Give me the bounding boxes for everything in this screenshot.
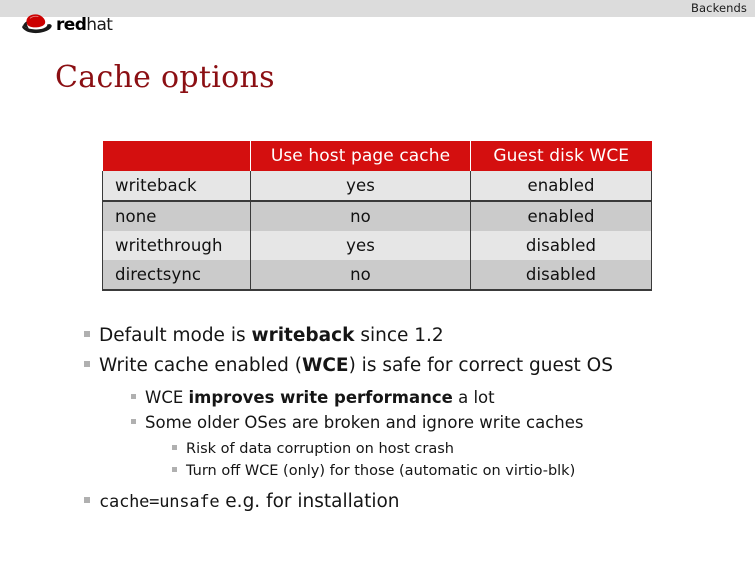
bullet-text-strong: WCE	[302, 355, 349, 376]
bullet-text-strong: improves write performance	[189, 388, 453, 407]
bullet-turn-off-wce: Turn off WCE (only) for those (automatic…	[172, 460, 724, 482]
bullet-text-post: e.g. for installation	[219, 491, 399, 512]
bullet-text-pre: Default mode is	[99, 325, 251, 346]
bullet-older-oses-broken: Some older OSes are broken and ignore wr…	[131, 410, 724, 435]
bullet-write-cache-enabled: Write cache enabled (WCE) is safe for co…	[84, 352, 724, 379]
bullet-square-icon	[131, 394, 136, 399]
bullet-list: Default mode is writeback since 1.2 Writ…	[84, 322, 724, 516]
table-header: Use host page cache Guest disk WCE	[103, 141, 652, 171]
bullet-text-post: ) is safe for correct guest OS	[349, 355, 613, 376]
bullet-text-pre: WCE	[145, 388, 189, 407]
bullet-text: Some older OSes are broken and ignore wr…	[145, 410, 583, 435]
table-row: writeback yes enabled	[103, 171, 652, 201]
header-band: Backends	[0, 0, 755, 17]
section-label: Backends	[691, 1, 747, 16]
bullet-risk-data-corruption: Risk of data corruption on host crash	[172, 438, 724, 460]
bullet-square-icon	[172, 467, 177, 472]
bullet-text: Write cache enabled (WCE) is safe for co…	[99, 352, 613, 379]
bullet-text: Default mode is writeback since 1.2	[99, 322, 444, 349]
bullet-code: cache=unsafe	[99, 492, 219, 512]
bullet-square-icon	[84, 331, 90, 337]
bullet-default-mode: Default mode is writeback since 1.2	[84, 322, 724, 349]
page-title: Cache options	[55, 60, 275, 95]
cell-guest-disk-wce: disabled	[471, 231, 652, 260]
redhat-shadowman-icon	[20, 13, 54, 37]
bullet-cache-unsafe: cache=unsafe e.g. for installation	[84, 488, 724, 516]
cell-host-page-cache: no	[251, 201, 471, 231]
bullet-square-icon	[172, 445, 177, 450]
logo-word-hat: hat	[86, 15, 112, 35]
cell-mode: none	[103, 201, 251, 231]
column-header-host-page-cache: Use host page cache	[251, 141, 471, 171]
cell-guest-disk-wce: enabled	[471, 201, 652, 231]
bullet-square-icon	[131, 419, 136, 424]
column-header-guest-disk-wce: Guest disk WCE	[471, 141, 652, 171]
cell-mode: writethrough	[103, 231, 251, 260]
table-body: writeback yes enabled none no enabled wr…	[103, 171, 652, 290]
table-row: none no enabled	[103, 201, 652, 231]
bullet-text: Turn off WCE (only) for those (automatic…	[186, 460, 575, 482]
bullet-wce-improves-performance: WCE improves write performance a lot	[131, 385, 724, 410]
bullet-square-icon	[84, 361, 90, 367]
bullet-text: Risk of data corruption on host crash	[186, 438, 454, 460]
bullet-square-icon	[84, 497, 90, 503]
bullet-text-strong: writeback	[251, 325, 354, 346]
column-header-mode	[103, 141, 251, 171]
table-row: directsync no disabled	[103, 260, 652, 290]
bullet-text-pre: Write cache enabled (	[99, 355, 302, 376]
redhat-logo: redhat	[20, 12, 112, 38]
table-row: writethrough yes disabled	[103, 231, 652, 260]
logo-word-red: red	[56, 15, 86, 35]
cell-host-page-cache: no	[251, 260, 471, 290]
bullet-text-post: a lot	[453, 388, 495, 407]
bullet-text: WCE improves write performance a lot	[145, 385, 495, 410]
cell-host-page-cache: yes	[251, 231, 471, 260]
cell-guest-disk-wce: disabled	[471, 260, 652, 290]
cell-mode: writeback	[103, 171, 251, 201]
bullet-text: cache=unsafe e.g. for installation	[99, 488, 400, 516]
redhat-wordmark: redhat	[56, 17, 112, 34]
table-header-row: Use host page cache Guest disk WCE	[103, 141, 652, 171]
cell-host-page-cache: yes	[251, 171, 471, 201]
cell-guest-disk-wce: enabled	[471, 171, 652, 201]
cell-mode: directsync	[103, 260, 251, 290]
cache-options-table: Use host page cache Guest disk WCE write…	[102, 141, 652, 291]
bullet-text-post: since 1.2	[354, 325, 443, 346]
